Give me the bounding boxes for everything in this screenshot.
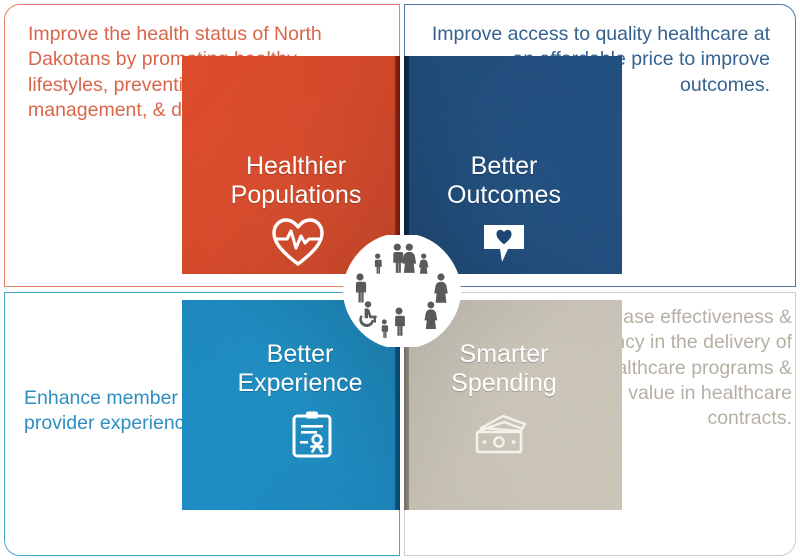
- people-circle-icon: [343, 235, 461, 347]
- quadrant-diagram: Improve the health status of North Dakot…: [0, 0, 800, 560]
- speech-bubble-heart-icon: [482, 222, 526, 264]
- heart-pulse-icon: [272, 218, 324, 266]
- clipboard-person-icon: [292, 410, 332, 458]
- wedge-label-smarter-spending: Smarter Spending: [406, 340, 602, 398]
- wedge-label-better-outcomes: Better Outcomes: [406, 152, 602, 210]
- wedge-label-better-experience: Better Experience: [200, 340, 400, 398]
- money-banknotes-icon: [473, 414, 529, 458]
- wedge-label-healthier-populations: Healthier Populations: [196, 152, 396, 210]
